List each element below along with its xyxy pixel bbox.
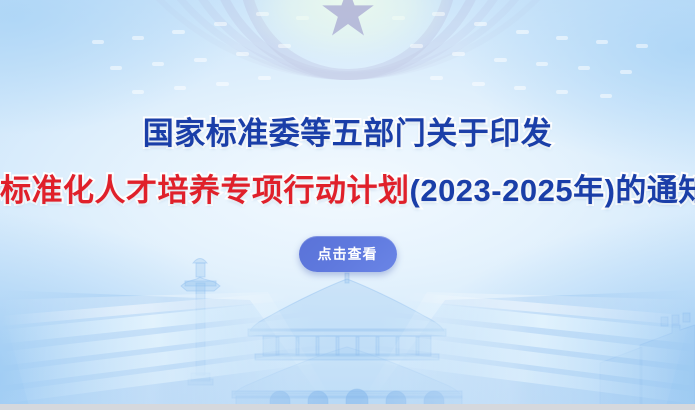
- banner-title-line-2: 标准化人才培养专项行动计划(2023-2025年)的通知: [0, 175, 695, 206]
- banner-title-suffix: (2023-2025年)的通知: [410, 173, 695, 208]
- banner-title-highlight: 标准化人才培养专项行动计划: [0, 173, 410, 208]
- view-details-button[interactable]: 点击查看: [299, 236, 397, 272]
- banner-content: 国家标准委等五部门关于印发 标准化人才培养专项行动计划(2023-2025年)的…: [0, 0, 695, 410]
- notice-banner: 国家标准委等五部门关于印发 标准化人才培养专项行动计划(2023-2025年)的…: [0, 0, 695, 410]
- banner-title-line-1: 国家标准委等五部门关于印发: [0, 118, 695, 149]
